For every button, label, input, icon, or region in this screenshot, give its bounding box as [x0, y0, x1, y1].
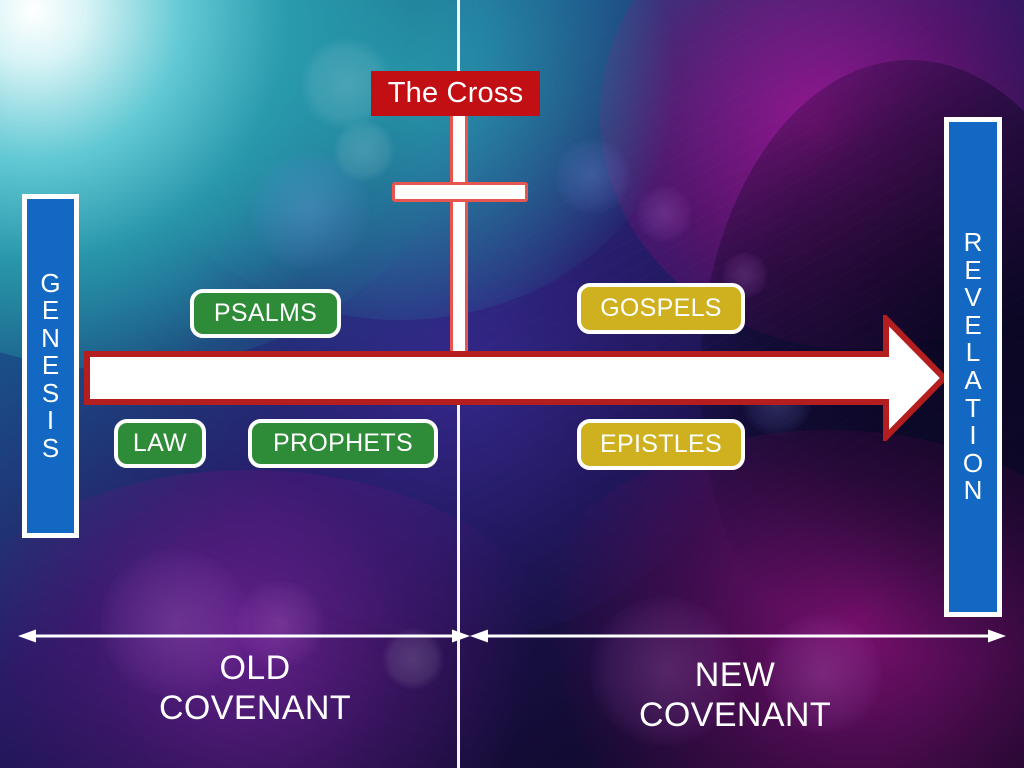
slide-canvas: The Cross G E N E S I S R E V E L A T I …: [0, 0, 1024, 768]
new-covenant-line2: COVENANT: [590, 695, 880, 735]
old-covenant-line1: OLD: [110, 648, 400, 688]
section-pill-gospels: GOSPELS: [577, 283, 745, 334]
genesis-letter: S: [42, 435, 59, 463]
section-pill-psalms: PSALMS: [190, 289, 341, 338]
section-pill-law: LAW: [114, 419, 206, 468]
section-pill-prophets: PROPHETS: [248, 419, 438, 468]
section-pill-label: EPISTLES: [600, 430, 722, 459]
revelation-bar: R E V E L A T I O N: [944, 117, 1002, 617]
revelation-letter: V: [964, 284, 981, 312]
revelation-letter: E: [964, 312, 981, 340]
genesis-letter: G: [40, 270, 60, 298]
section-pill-label: PROPHETS: [273, 429, 413, 458]
old-covenant-span-arrow: [18, 626, 470, 646]
revelation-letter: T: [965, 395, 981, 423]
cross-label-text: The Cross: [388, 77, 524, 110]
double-arrow-icon: [18, 626, 470, 646]
old-covenant-label: OLD COVENANT: [110, 648, 400, 728]
section-pill-epistles: EPISTLES: [577, 419, 745, 470]
old-covenant-line2: COVENANT: [110, 688, 400, 728]
genesis-letter: S: [42, 380, 59, 408]
double-arrow-icon: [470, 626, 1006, 646]
genesis-bar: G E N E S I S: [22, 194, 79, 538]
revelation-letter: A: [964, 367, 981, 395]
revelation-letter: O: [963, 450, 983, 478]
revelation-letter: E: [964, 257, 981, 285]
section-pill-label: GOSPELS: [600, 294, 722, 323]
revelation-letter: I: [969, 422, 976, 450]
revelation-letter: R: [964, 229, 983, 257]
new-covenant-label: NEW COVENANT: [590, 655, 880, 735]
revelation-letter: N: [964, 477, 983, 505]
cross-label: The Cross: [371, 71, 540, 116]
genesis-letter: E: [42, 297, 59, 325]
genesis-letter: E: [42, 352, 59, 380]
section-pill-label: LAW: [133, 429, 187, 458]
revelation-letter: L: [966, 339, 980, 367]
new-covenant-line1: NEW: [590, 655, 880, 695]
new-covenant-span-arrow: [470, 626, 1006, 646]
section-pill-label: PSALMS: [214, 299, 317, 328]
cross-horizontal-beam: [392, 182, 528, 202]
genesis-letter: N: [41, 325, 60, 353]
genesis-letter: I: [47, 407, 54, 435]
